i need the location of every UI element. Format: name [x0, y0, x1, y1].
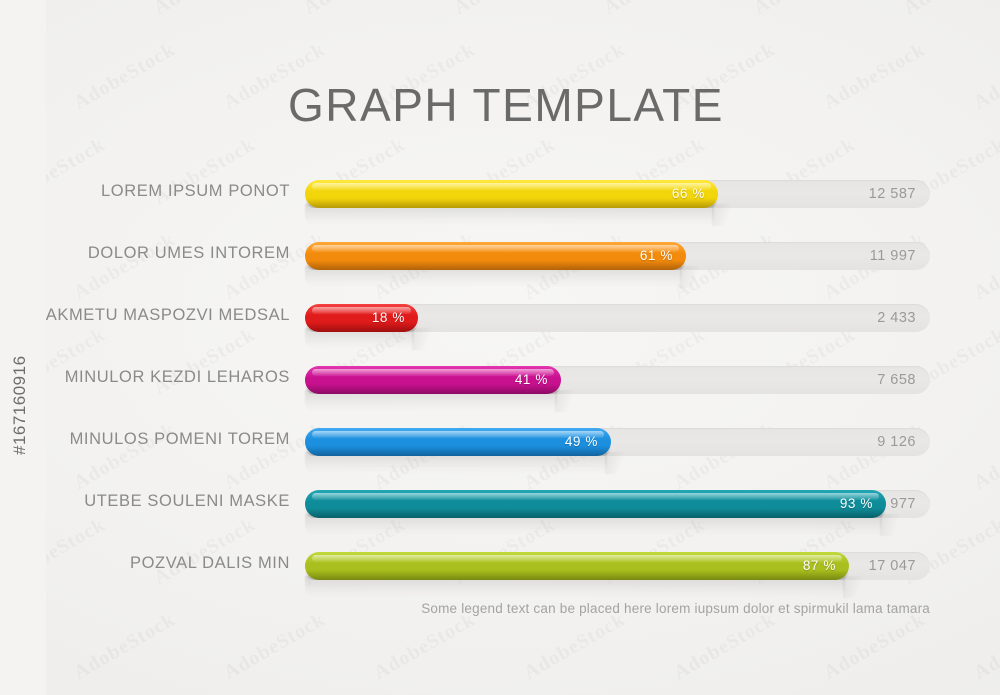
- row-value: 12 587: [869, 180, 916, 208]
- bar-wrapper[interactable]: 41 %: [305, 366, 561, 394]
- sidebar-strip: #167160916: [0, 0, 46, 695]
- bar-percent-label: 49 %: [565, 428, 598, 456]
- row-value: 17 047: [869, 552, 916, 580]
- bar-wrapper[interactable]: 18 %: [305, 304, 418, 332]
- row-value: 2 433: [877, 304, 916, 332]
- row-value: 9 126: [877, 428, 916, 456]
- bar-fill[interactable]: 49 %: [305, 428, 611, 456]
- bar-wrapper[interactable]: 61 %: [305, 242, 686, 270]
- chart-row: POZVAL DALIS MIN 17 047 87 %: [0, 542, 1000, 604]
- bar-fill[interactable]: 61 %: [305, 242, 686, 270]
- bar-wrapper[interactable]: 49 %: [305, 428, 611, 456]
- bar-fill[interactable]: 66 %: [305, 180, 718, 208]
- chart-row: UTEBE SOULENI MASKE 19 977 93 %: [0, 480, 1000, 542]
- chart-row: DOLOR UMES INTOREM 11 997 61 %: [0, 232, 1000, 294]
- chart-row: MINULOS POMENI TOREM 9 126 49 %: [0, 418, 1000, 480]
- bar-percent-label: 18 %: [372, 304, 405, 332]
- bar-chart-rows: LOREM IPSUM PONOT 12 587 66 % DOLOR UMES…: [0, 170, 1000, 604]
- bar-wrapper[interactable]: 93 %: [305, 490, 886, 518]
- bar-wrapper[interactable]: 66 %: [305, 180, 718, 208]
- legend-text: Some legend text can be placed here lore…: [421, 601, 930, 616]
- bar-fill[interactable]: 93 %: [305, 490, 886, 518]
- bar-percent-label: 87 %: [803, 552, 836, 580]
- bar-fill[interactable]: 87 %: [305, 552, 849, 580]
- bar-fill[interactable]: 18 %: [305, 304, 418, 332]
- chart-row: LOREM IPSUM PONOT 12 587 66 %: [0, 170, 1000, 232]
- bar-percent-label: 66 %: [672, 180, 705, 208]
- bar-percent-label: 93 %: [840, 490, 873, 518]
- row-value: 7 658: [877, 366, 916, 394]
- bar-wrapper[interactable]: 87 %: [305, 552, 849, 580]
- chart-content: GRAPH TEMPLATE LOREM IPSUM PONOT 12 587 …: [0, 0, 1000, 695]
- chart-row: MINULOR KEZDI LEHAROS 7 658 41 %: [0, 356, 1000, 418]
- bar-percent-label: 41 %: [515, 366, 548, 394]
- bar-fill[interactable]: 41 %: [305, 366, 561, 394]
- bar-percent-label: 61 %: [640, 242, 673, 270]
- stock-id-label: #167160916: [10, 355, 30, 455]
- chart-row: TAKMETU MASPOZVI MEDSAL 2 433 18 %: [0, 294, 1000, 356]
- page-title: GRAPH TEMPLATE: [0, 78, 1000, 132]
- row-value: 11 997: [870, 242, 916, 270]
